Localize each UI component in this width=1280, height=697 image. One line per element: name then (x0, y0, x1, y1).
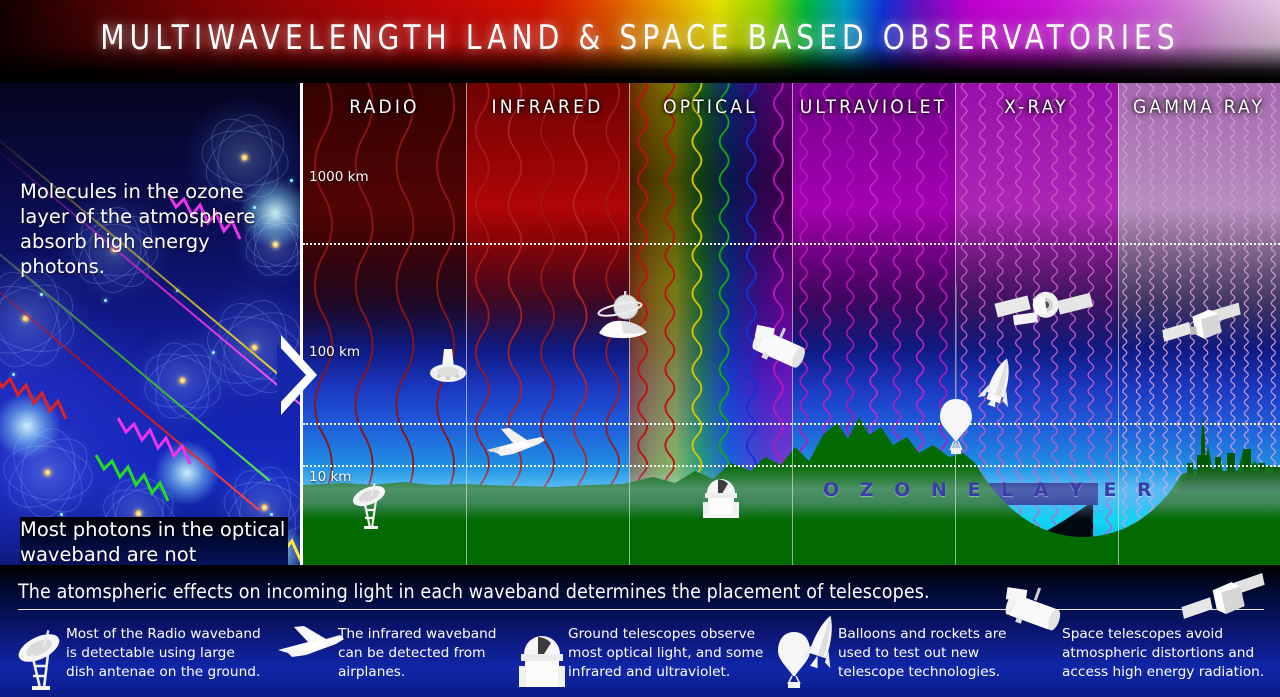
bottom-divider (18, 609, 1264, 610)
sparkle (212, 351, 215, 354)
header-banner: MULTIWAVELENGTH LAND & SPACE BASED OBSER… (0, 0, 1280, 80)
radio-dish-icon (12, 626, 68, 692)
ozone-layer-label: O Z O N E L A Y E R (823, 479, 1159, 501)
altitude-label-1000km: 1000 km (309, 169, 369, 185)
legend-text: Most of the Radio waveband is detectable… (66, 625, 262, 682)
sparkle (270, 513, 273, 516)
page-title: MULTIWAVELENGTH LAND & SPACE BASED OBSER… (51, 18, 1229, 58)
legend-row: Most of the Radio waveband is detectable… (0, 618, 1280, 697)
orbiting-observatory-icon (591, 289, 657, 343)
column-separator (792, 83, 793, 565)
left-panel-top-text: Molecules in the ozone layer of the atmo… (20, 179, 282, 279)
left-explainer-panel: Molecules in the ozone layer of the atmo… (0, 83, 303, 565)
gamma-satellite-icon (1163, 305, 1243, 357)
space-telescope-icon (743, 326, 815, 378)
airplane-icon (274, 622, 346, 662)
radio-dish-icon (346, 478, 402, 534)
waveband-header-row: RADIOINFRAREDOPTICALULTRAVIOLETX-RAYGAMM… (303, 83, 1280, 131)
airplane-icon (483, 423, 547, 463)
legend-item: Ground telescopes observe most optical l… (506, 618, 766, 697)
legend-item: The infrared waveband can be detected fr… (266, 618, 506, 697)
waveband-label-radio: RADIO (303, 83, 466, 131)
legend-text: The infrared waveband can be detected fr… (338, 625, 524, 682)
legend-text: Ground telescopes observe most optical l… (568, 625, 770, 682)
legend-text: Space telescopes avoid atmospheric disto… (1062, 625, 1274, 682)
column-separator (466, 83, 467, 565)
bottom-gamma-satellite-icon (1182, 578, 1268, 632)
atmosphere-diagram: O Z O N E L A Y E R 1000 km 100 km 10 km (303, 83, 1280, 565)
ground-telescope-icon (516, 624, 568, 692)
photon-zigzag-red (0, 373, 74, 433)
balloon-icon (938, 393, 974, 455)
balloon-rocket-icon (774, 610, 838, 690)
waveband-label-x-ray: X-RAY (955, 83, 1118, 131)
waveband-label-optical: OPTICAL (629, 83, 792, 131)
waveband-label-ultraviolet: ULTRAVIOLET (792, 83, 955, 131)
waveband-label-gamma-ray: GAMMA RAY (1118, 83, 1280, 131)
sparkle (104, 299, 107, 302)
legend-item: Most of the Radio waveband is detectable… (0, 618, 262, 697)
legend-item: Balloons and rockets are used to test ou… (770, 618, 1030, 697)
radio-orbiter-icon (428, 345, 476, 389)
altitude-line-100km (303, 423, 1280, 425)
xray-satellite-icon (995, 283, 1095, 345)
ground-telescope-icon (701, 471, 741, 519)
sparkle (60, 513, 63, 516)
altitude-line-1000km (303, 243, 1280, 245)
rocket-icon (978, 355, 1018, 417)
bottom-summary-text: The atomspheric effects on incoming ligh… (18, 580, 1028, 603)
altitude-line-10km (303, 465, 1280, 467)
sparkle (290, 179, 293, 182)
waveband-label-infrared: INFRARED (466, 83, 629, 131)
bottom-space-telescope-icon (995, 586, 1075, 642)
infographic-root: MULTIWAVELENGTH LAND & SPACE BASED OBSER… (0, 0, 1280, 697)
left-panel-bottom-text: Most photons in the optical waveband are… (20, 517, 288, 565)
photon-zigzag-green (96, 455, 176, 515)
sparkle (40, 293, 43, 296)
